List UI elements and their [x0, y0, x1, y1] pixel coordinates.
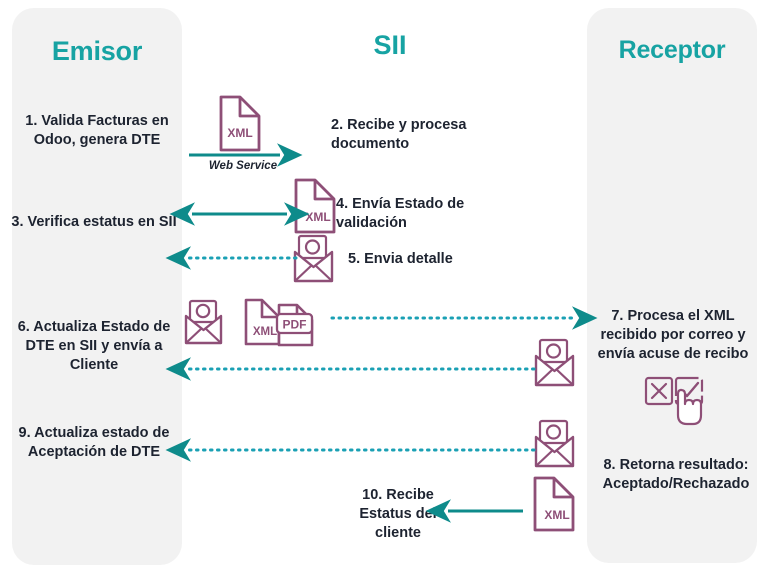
- email-envelope-icon-receptor-bottom: [536, 421, 573, 466]
- svg-text:XML: XML: [544, 508, 569, 522]
- svg-text:XML: XML: [253, 326, 277, 338]
- xml-document-icon-group: XML: [246, 300, 279, 344]
- diagram-canvas: Emisor Receptor SII 1. Valida Facturas e…: [0, 0, 768, 580]
- svg-text:XML: XML: [227, 126, 252, 140]
- email-envelope-icon-sii: [295, 236, 332, 281]
- email-envelope-icon-group: [186, 301, 221, 343]
- svg-text:XML: XML: [305, 210, 330, 224]
- icon-and-arrow-layer: XML XML XML: [0, 0, 768, 580]
- svg-text:PDF: PDF: [283, 318, 307, 332]
- pdf-document-icon-group: PDF: [277, 305, 312, 345]
- xml-document-icon-top: XML: [221, 97, 259, 150]
- email-envelope-icon-receptor-top: [536, 340, 573, 385]
- xml-document-icon-mid: XML: [296, 180, 334, 232]
- xml-document-icon-bottom: XML: [535, 478, 573, 530]
- checkbox-choice-hand-icon: [646, 378, 702, 424]
